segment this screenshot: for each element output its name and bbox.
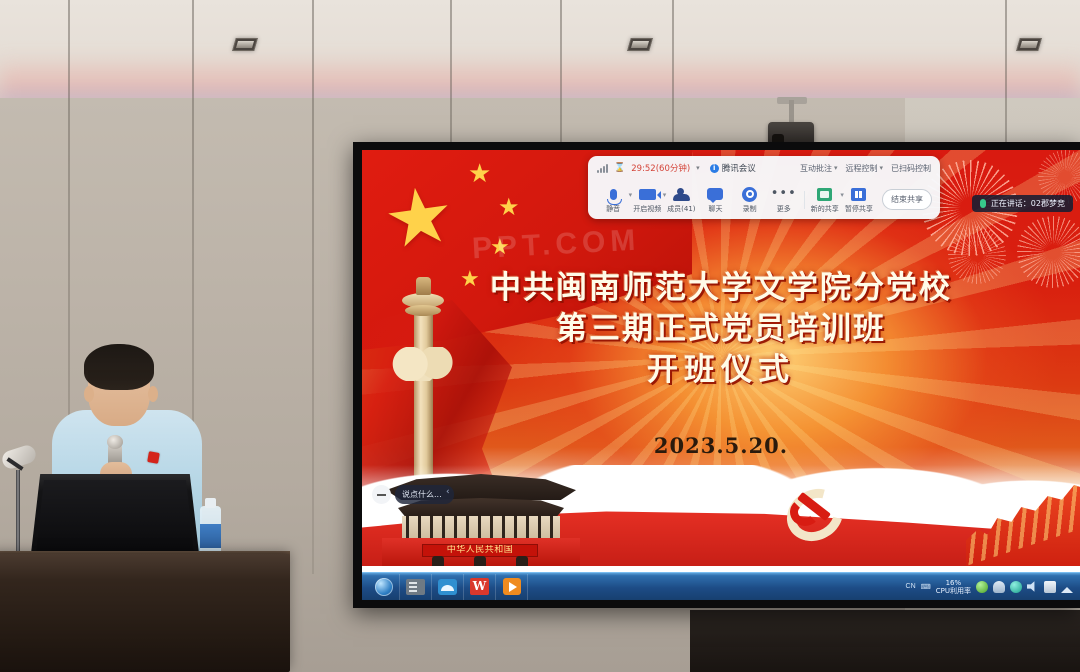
- party-emblem-icon: [780, 486, 852, 544]
- presenter-ear: [148, 386, 158, 402]
- signal-bars-icon: [597, 164, 608, 173]
- slide-date: 2023.5.20.: [362, 433, 1080, 458]
- start-video-button[interactable]: 开启视频 ▾: [630, 186, 664, 214]
- more-dots-icon: •••: [767, 186, 801, 203]
- ceiling-spotlight-icon: [627, 38, 653, 51]
- participants-button[interactable]: 成员(41): [664, 186, 698, 214]
- flag-large-star-icon: ★: [379, 174, 459, 261]
- annotation-label: 互动批注: [800, 163, 832, 174]
- meeting-toolbar-top-row: ⌛ 29:52(60分钟) ▾ i 腾讯会议 互动批注 ▾ 远程控制 ▾: [588, 156, 940, 180]
- cpu-usage-indicator[interactable]: 16% CPU利用率: [936, 579, 971, 595]
- chat-input-placeholder[interactable]: 说点什么...: [395, 485, 454, 504]
- slide-title-block: 中共闽南师范大学文学院分党校 第三期正式党员培训班 开班仪式: [362, 268, 1080, 391]
- water-bottle-cap: [205, 498, 216, 508]
- speaking-text: 正在讲话：02郡梦竞: [991, 198, 1065, 209]
- flag-small-star-icon: ★: [468, 160, 491, 186]
- camera-icon: [630, 186, 664, 203]
- scan-control-label: 已扫码控制: [891, 163, 931, 174]
- party-pin-icon: [147, 451, 160, 464]
- timer-caret-icon[interactable]: ▾: [696, 164, 700, 172]
- toolbar-divider: [804, 191, 805, 209]
- quick-launch-bar: W: [362, 574, 528, 600]
- wps-office-icon[interactable]: W: [464, 574, 496, 600]
- speaker-icon[interactable]: [1027, 581, 1039, 593]
- mute-button[interactable]: 静音 ▾: [596, 186, 630, 214]
- media-player-icon[interactable]: [496, 574, 528, 600]
- browser-globe-icon[interactable]: [368, 574, 400, 600]
- start-video-label: 开启视频: [630, 204, 664, 214]
- more-label: 更多: [767, 204, 801, 214]
- record-icon: [733, 186, 767, 203]
- system-tray: CN ⌨ 16% CPU利用率: [906, 579, 1080, 595]
- cloud-icon[interactable]: [993, 581, 1005, 593]
- conference-room-scene: ★ ★ ★ ★ ★ PPT.COM 中共闽南师范大学文学院分党校 第: [0, 0, 1080, 672]
- tiananmen-columns: [406, 516, 556, 538]
- participants-label: 成员(41): [664, 204, 698, 214]
- participants-icon: [664, 186, 698, 203]
- remote-control-menu[interactable]: 远程控制 ▾: [845, 163, 883, 174]
- led-display-screen: ★ ★ ★ ★ ★ PPT.COM 中共闽南师范大学文学院分党校 第: [362, 150, 1080, 600]
- mute-label: 静音: [596, 204, 630, 214]
- more-button[interactable]: ••• 更多: [767, 186, 801, 214]
- show-hidden-icons-icon[interactable]: [1061, 581, 1073, 593]
- flag-small-star-icon: ★: [498, 196, 520, 220]
- podium: [0, 554, 290, 672]
- podium-monitor-screen: [36, 480, 194, 554]
- chat-input-bubble[interactable]: 说点什么...: [372, 485, 454, 504]
- info-badge-icon: i: [710, 164, 719, 173]
- file-explorer-icon[interactable]: [400, 574, 432, 600]
- ime-language-indicator[interactable]: CN: [906, 583, 916, 590]
- ceiling-spotlight-icon: [232, 38, 258, 51]
- teal-app-icon[interactable]: [1010, 581, 1022, 593]
- record-label: 录制: [733, 204, 767, 214]
- new-share-button[interactable]: 新的共享 ▾: [808, 186, 842, 214]
- hourglass-icon: ⌛: [614, 163, 625, 173]
- presenter-hair: [84, 344, 154, 390]
- windows-taskbar[interactable]: W CN ⌨ 16% CPU利用率: [362, 572, 1080, 600]
- tiananmen-gate-icon: 中华人民共和国: [376, 468, 586, 564]
- cpu-usage-label: CPU利用率: [936, 587, 971, 595]
- chat-button[interactable]: 聊天: [698, 186, 732, 214]
- user-avatar-icon: [372, 485, 391, 504]
- presenter-ear: [84, 386, 94, 402]
- ceiling-spotlight-icon: [1016, 38, 1042, 51]
- microphone-active-icon: [980, 199, 986, 208]
- blue-app-icon[interactable]: [432, 574, 464, 600]
- brand-label: 腾讯会议: [722, 162, 756, 174]
- annotation-menu[interactable]: 互动批注 ▾: [800, 163, 838, 174]
- microphone-icon: [596, 186, 630, 203]
- tiananmen-gate-arch: [516, 556, 528, 566]
- meeting-timer: 29:52(60分钟): [631, 162, 690, 174]
- tencent-meeting-brand: i 腾讯会议: [710, 162, 756, 174]
- slide-title-line-1: 中共闽南师范大学文学院分党校: [362, 268, 1080, 309]
- pause-share-icon: [842, 186, 876, 203]
- tencent-meeting-toolbar[interactable]: ⌛ 29:52(60分钟) ▾ i 腾讯会议 互动批注 ▾ 远程控制 ▾: [588, 156, 940, 219]
- pause-share-button[interactable]: 暂停共享: [842, 186, 876, 214]
- meeting-toolbar-top-right: 互动批注 ▾ 远程控制 ▾ 已扫码控制: [800, 163, 931, 174]
- meeting-toolbar-button-row: 静音 ▾ 开启视频 ▾ 成员(41) 聊天 录制: [588, 180, 940, 219]
- slide-title-line-2: 第三期正式党员培训班: [362, 309, 1080, 350]
- cpu-usage-value: 16%: [936, 579, 971, 587]
- chevron-down-icon: ▾: [879, 164, 883, 172]
- record-button[interactable]: 录制: [733, 186, 767, 214]
- tiananmen-gate-arch: [474, 556, 486, 566]
- new-share-label: 新的共享: [808, 204, 842, 214]
- wall-dark-base: [690, 610, 1080, 672]
- tiananmen-gate-arch: [432, 556, 444, 566]
- pause-share-label: 暂停共享: [842, 204, 876, 214]
- green-status-icon[interactable]: [976, 581, 988, 593]
- chat-icon: [698, 186, 732, 203]
- wall-seam: [312, 0, 314, 574]
- document-icon[interactable]: [1044, 581, 1056, 593]
- keyboard-icon[interactable]: ⌨: [921, 583, 931, 591]
- scan-control-status[interactable]: 已扫码控制: [891, 163, 931, 174]
- speaking-indicator-badge: 正在讲话：02郡梦竞: [972, 195, 1073, 212]
- remote-control-label: 远程控制: [845, 163, 877, 174]
- share-screen-icon: [808, 186, 842, 203]
- slide-title-line-3: 开班仪式: [362, 350, 1080, 391]
- water-bottle-label: [200, 524, 221, 548]
- end-share-button[interactable]: 结束共享: [882, 189, 932, 210]
- chevron-down-icon: ▾: [834, 164, 838, 172]
